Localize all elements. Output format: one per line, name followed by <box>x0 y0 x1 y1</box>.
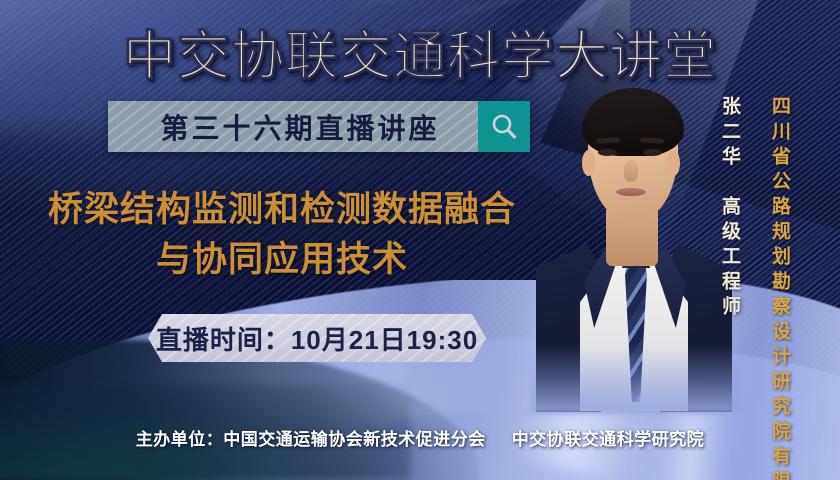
organizer-primary: 中国交通运输协会新技术促进分会 <box>223 430 486 449</box>
portrait-bottom-fade <box>530 344 740 414</box>
portrait-hair <box>582 88 684 156</box>
organizers-footer: 主办单位：中国交通运输协会新技术促进分会中交协联交通科学研究院 <box>0 425 840 450</box>
lecture-title-line-2: 与协同应用技术 <box>22 236 542 286</box>
organizers-prefix: 主办单位： <box>136 430 224 449</box>
speaker-name-and-title: 张二华 高级工程师 <box>717 96 744 321</box>
search-icon-button[interactable] <box>478 101 530 152</box>
episode-label: 第三十六期直播讲座 <box>146 107 439 147</box>
portrait-mouth <box>616 188 646 196</box>
poster-headline: 中交协联交通科学大讲堂 <box>0 14 840 90</box>
portrait-eye-right <box>643 149 662 156</box>
organizer-secondary: 中交协联交通科学研究院 <box>512 430 705 449</box>
episode-banner-text-area: 第三十六期直播讲座 <box>108 101 478 152</box>
portrait-nose <box>624 160 638 182</box>
webinar-poster: 中交协联交通科学大讲堂 第三十六期直播讲座 桥梁结构监测和检测数据融合 与协同应… <box>0 0 840 480</box>
portrait-eye-left <box>598 149 617 156</box>
broadcast-time-label: 直播时间：10月21日19:30 <box>156 320 478 357</box>
lecture-title: 桥梁结构监测和检测数据融合 与协同应用技术 <box>22 186 542 285</box>
portrait-ear-left <box>582 150 595 176</box>
broadcast-time-badge: 直播时间：10月21日19:30 <box>148 314 486 362</box>
speaker-organization: 四川省公路规划勘察设计研究院有限公司 <box>767 96 794 480</box>
portrait-ear-right <box>667 150 680 176</box>
episode-banner: 第三十六期直播讲座 <box>108 101 530 152</box>
lecture-title-line-1: 桥梁结构监测和检测数据融合 <box>22 186 542 236</box>
speaker-portrait-photo <box>540 78 722 408</box>
search-icon <box>489 112 519 142</box>
